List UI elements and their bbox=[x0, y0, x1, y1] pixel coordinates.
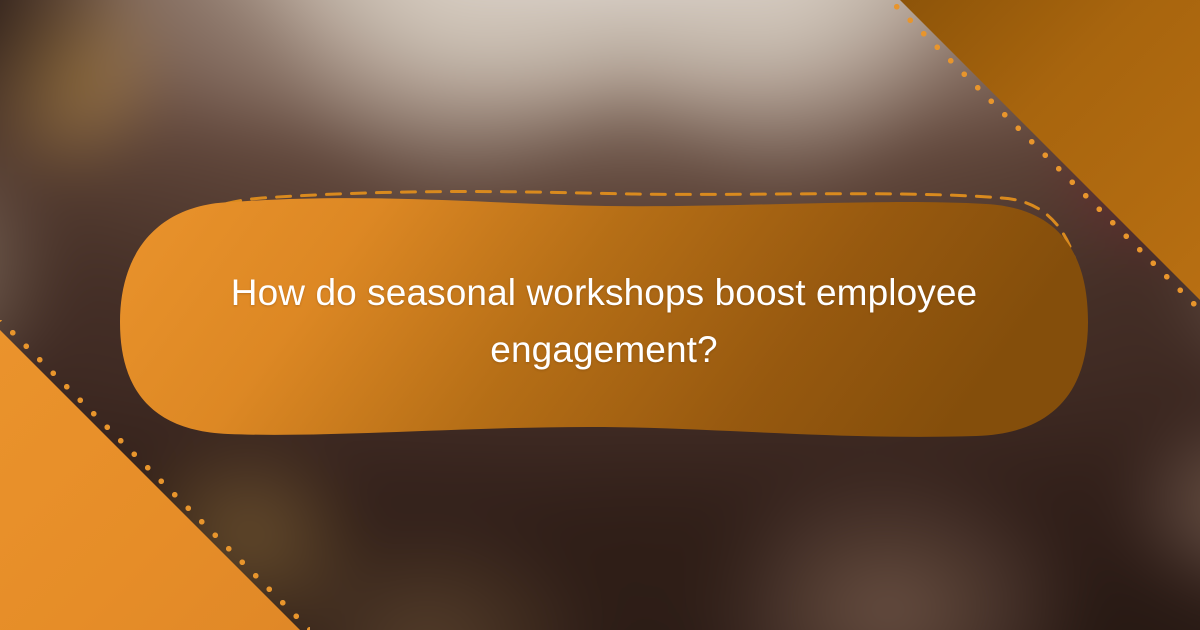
headline-card: How do seasonal workshops boost employee… bbox=[112, 182, 1096, 454]
headline-text-block: How do seasonal workshops boost employee… bbox=[120, 196, 1088, 446]
social-card-canvas: How do seasonal workshops boost employee… bbox=[0, 0, 1200, 630]
headline-line-1: How do seasonal workshops boost employee bbox=[231, 264, 977, 321]
headline-line-2: engagement? bbox=[490, 321, 717, 378]
